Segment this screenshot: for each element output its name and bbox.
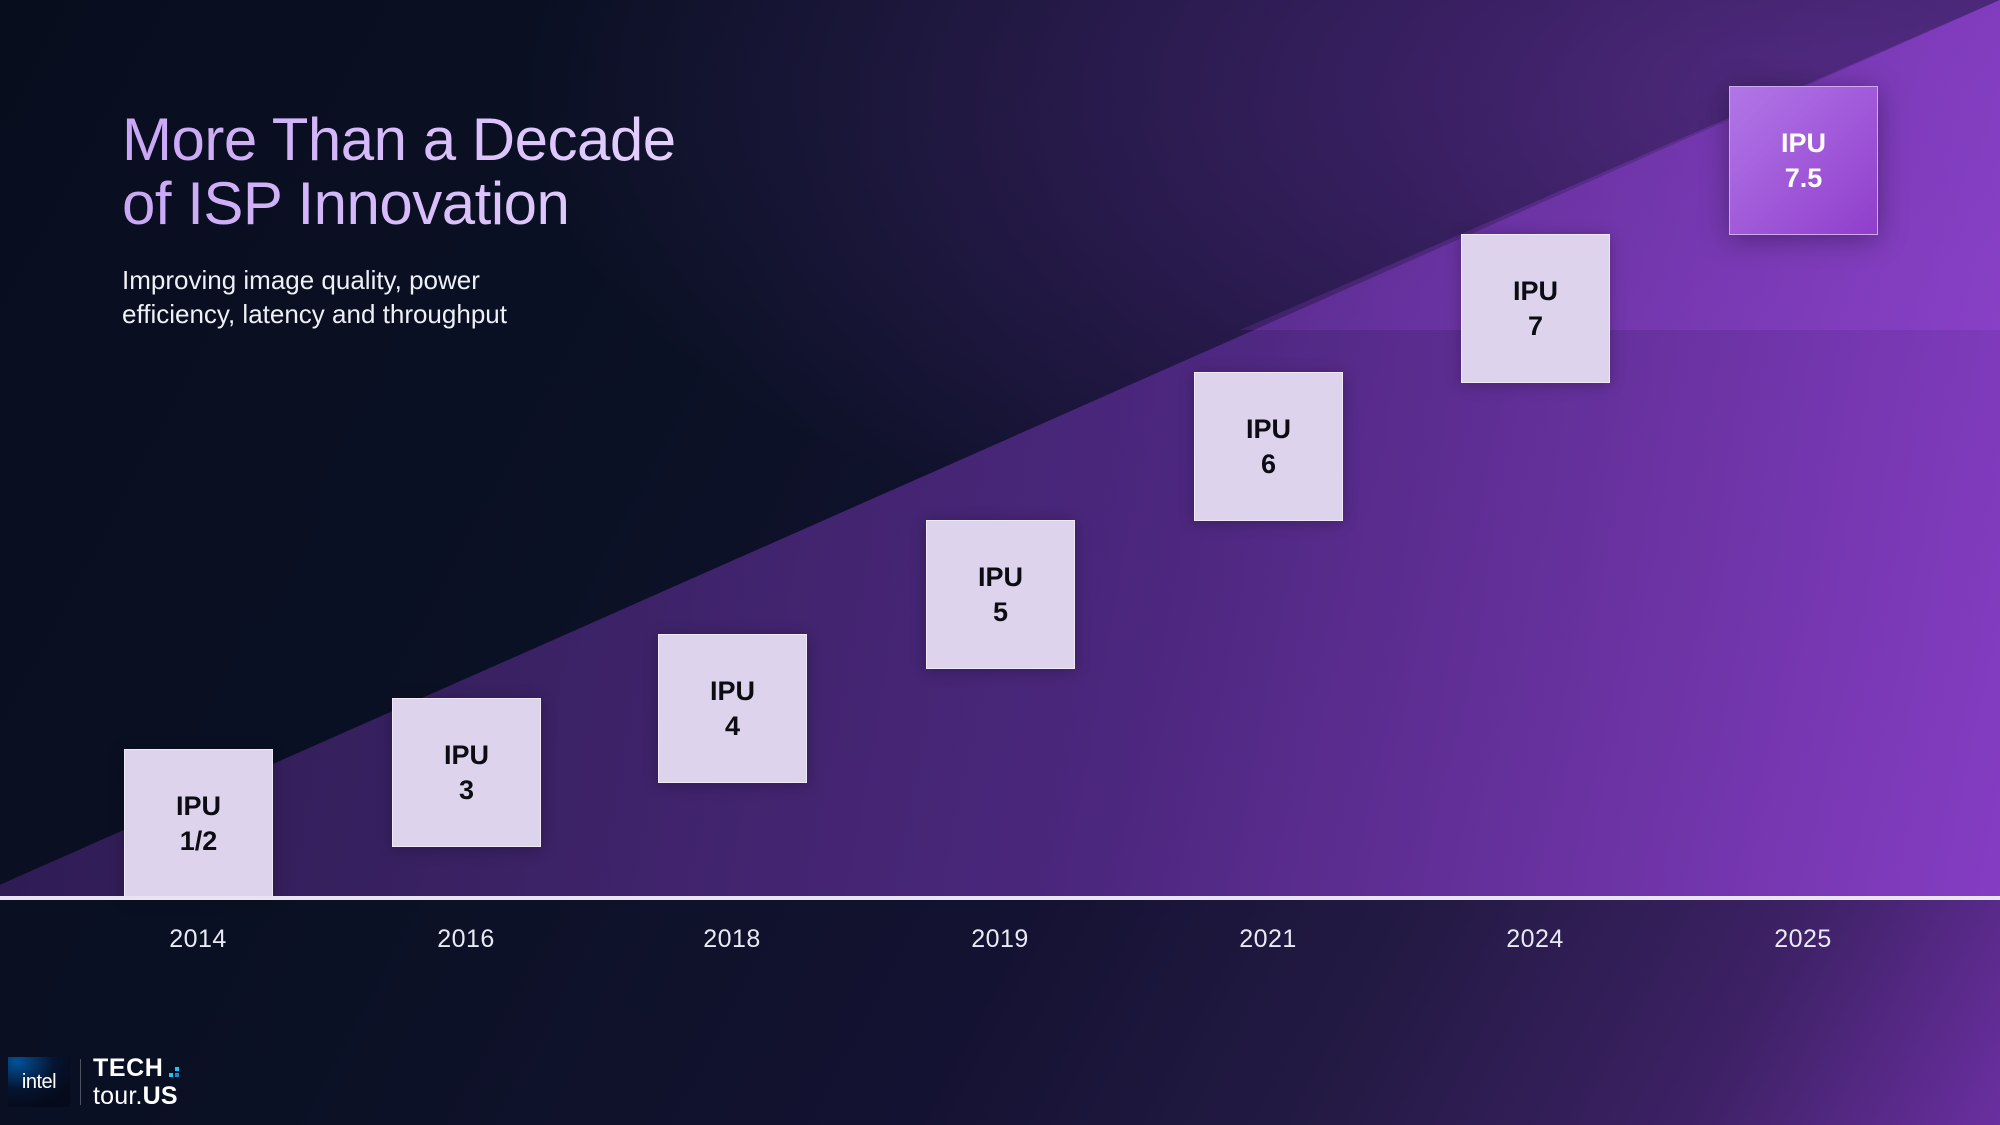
page-subtitle: Improving image quality, power efficienc… [122,264,942,331]
ipu-milestone-box: IPU6 [1194,372,1343,521]
tech-tour-logo: TECH tour.US [93,1056,184,1109]
ipu-version: 4 [725,709,740,743]
timeline-year-label: 2019 [920,925,1080,954]
ipu-label: IPU [1781,126,1826,160]
timeline-axis [0,896,2000,900]
tour-wordmark: tour.US [93,1084,184,1109]
intel-wordmark: intel [22,1071,56,1094]
timeline-year-label: 2014 [118,925,278,954]
us-text: US [143,1082,178,1110]
timeline-year-label: 2016 [386,925,546,954]
timeline-year-label: 2025 [1723,925,1883,954]
dots-icon [168,1065,184,1081]
ipu-label: IPU [710,674,755,708]
ipu-milestone-box: IPU1/2 [124,749,273,898]
timeline-year-label: 2021 [1188,925,1348,954]
logo-lockup: intel TECH tour.US [0,1039,250,1125]
ipu-label: IPU [444,738,489,772]
ipu-version: 1/2 [180,824,218,858]
heading-block: More Than a Decade of ISP Innovation Imp… [122,108,942,331]
ipu-version: 6 [1261,447,1276,481]
logo-divider [80,1059,81,1105]
ipu-label: IPU [1246,412,1291,446]
tech-tour-top-row: TECH [93,1056,184,1081]
ipu-label: IPU [176,789,221,823]
ipu-version: 3 [459,773,474,807]
ipu-milestone-box: IPU3 [392,698,541,847]
ipu-milestone-box: IPU7 [1461,234,1610,383]
ipu-milestone-box: IPU5 [926,520,1075,669]
ipu-version: 5 [993,595,1008,629]
ipu-version: 7.5 [1785,161,1823,195]
tech-wordmark: TECH [93,1056,163,1081]
ipu-milestone-box: IPU7.5 [1729,86,1878,235]
page-title: More Than a Decade of ISP Innovation [122,108,942,236]
slide-canvas: More Than a Decade of ISP Innovation Imp… [0,0,2000,1125]
timeline-year-label: 2024 [1455,925,1615,954]
wedge-top-triangle [1240,0,2000,330]
ipu-milestone-box: IPU4 [658,634,807,783]
ipu-label: IPU [978,560,1023,594]
tour-text: tour. [93,1082,143,1110]
intel-logo: intel [8,1057,70,1107]
ipu-version: 7 [1528,309,1543,343]
timeline-year-label: 2018 [652,925,812,954]
ipu-label: IPU [1513,274,1558,308]
